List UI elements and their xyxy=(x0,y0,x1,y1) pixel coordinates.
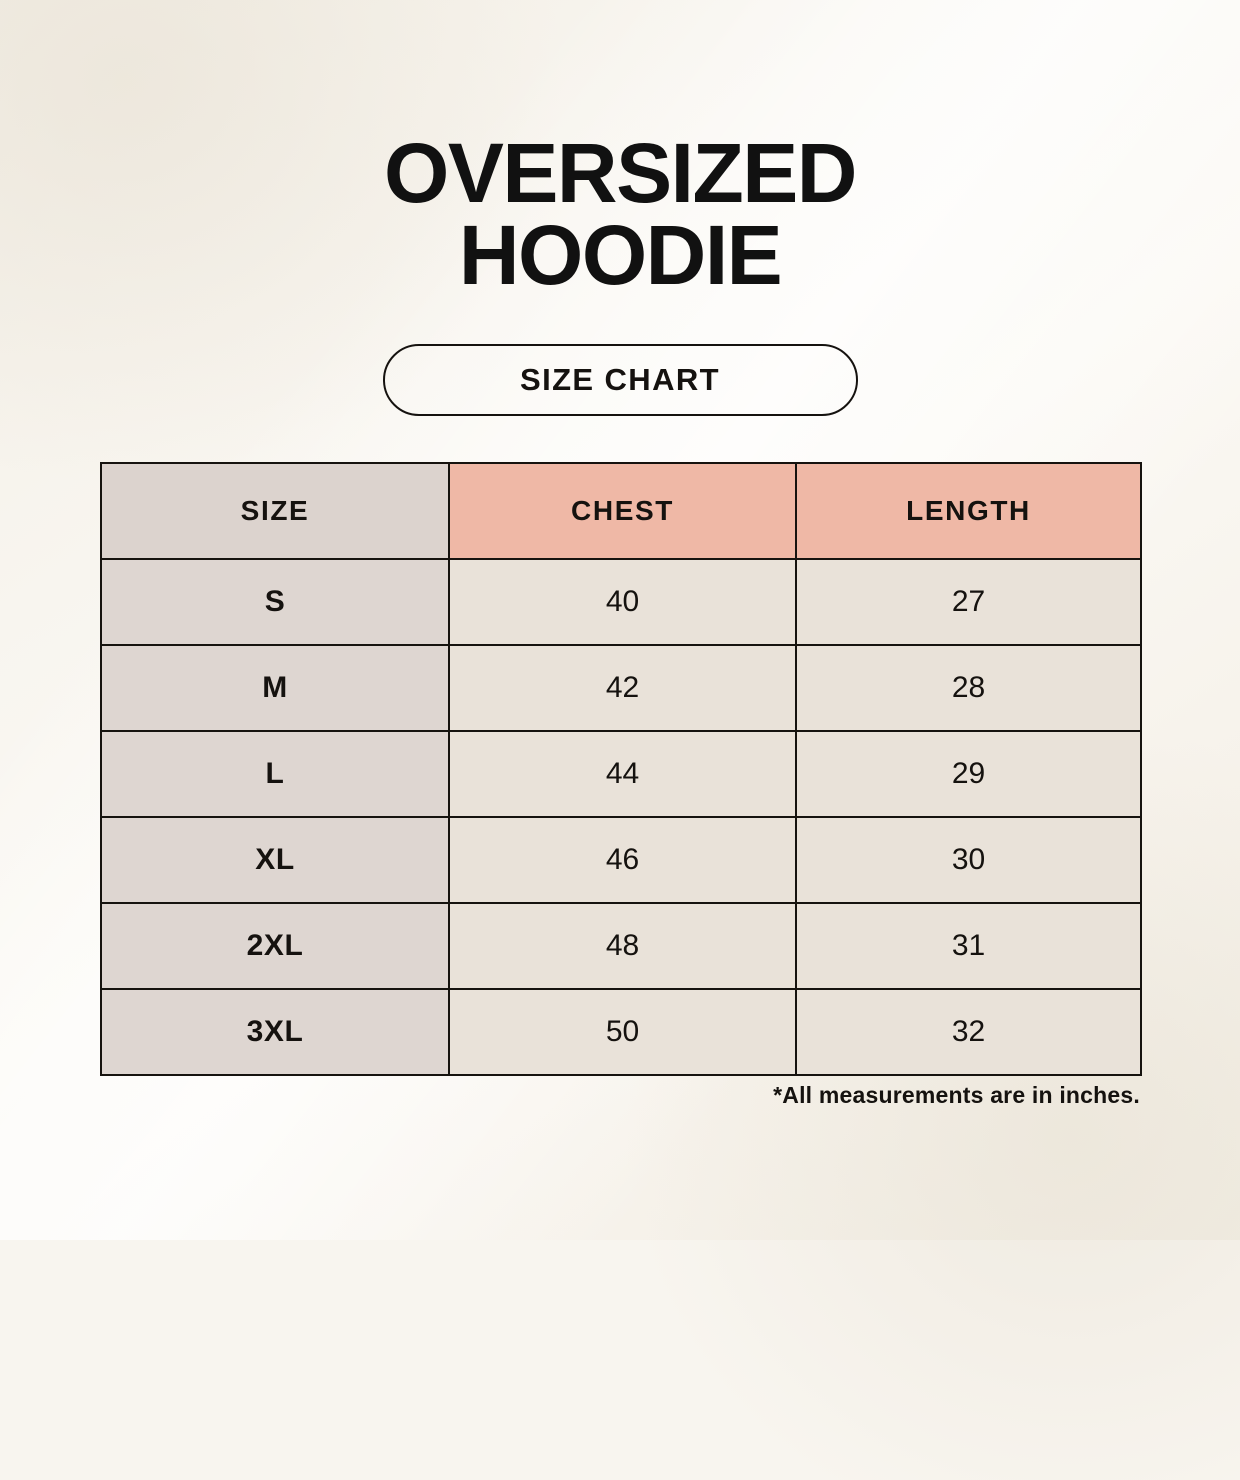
size-chart-badge: SIZE CHART xyxy=(383,344,858,416)
table-row: XL 46 30 xyxy=(101,817,1141,903)
cell-length: 32 xyxy=(796,989,1141,1075)
cell-size: XL xyxy=(101,817,449,903)
cell-length: 30 xyxy=(796,817,1141,903)
cell-length: 28 xyxy=(796,645,1141,731)
cell-length: 31 xyxy=(796,903,1141,989)
cell-chest: 40 xyxy=(449,559,796,645)
size-chart-table: SIZE CHEST LENGTH S 40 27 M 42 28 L 44 2… xyxy=(100,462,1142,1076)
column-header-chest: CHEST xyxy=(449,463,796,559)
cell-chest: 50 xyxy=(449,989,796,1075)
cell-length: 27 xyxy=(796,559,1141,645)
badge-container: SIZE CHART xyxy=(0,344,1240,416)
column-header-size: SIZE xyxy=(101,463,449,559)
table-row: M 42 28 xyxy=(101,645,1141,731)
cell-length: 29 xyxy=(796,731,1141,817)
cell-chest: 46 xyxy=(449,817,796,903)
cell-chest: 42 xyxy=(449,645,796,731)
cell-chest: 44 xyxy=(449,731,796,817)
measurement-units-note: *All measurements are in inches. xyxy=(100,1082,1140,1109)
table-header-row: SIZE CHEST LENGTH xyxy=(101,463,1141,559)
table-header: SIZE CHEST LENGTH xyxy=(101,463,1141,559)
column-header-length: LENGTH xyxy=(796,463,1141,559)
cell-size: M xyxy=(101,645,449,731)
cell-size: S xyxy=(101,559,449,645)
cell-chest: 48 xyxy=(449,903,796,989)
cell-size: L xyxy=(101,731,449,817)
page-title: OVERSIZED HOODIE xyxy=(0,132,1240,296)
size-chart-poster: OVERSIZED HOODIE SIZE CHART SIZE CHEST L… xyxy=(0,0,1240,1240)
table-row: S 40 27 xyxy=(101,559,1141,645)
size-chart-badge-label: SIZE CHART xyxy=(520,362,720,398)
table-row: L 44 29 xyxy=(101,731,1141,817)
table-row: 2XL 48 31 xyxy=(101,903,1141,989)
table-row: 3XL 50 32 xyxy=(101,989,1141,1075)
cell-size: 3XL xyxy=(101,989,449,1075)
table-body: S 40 27 M 42 28 L 44 29 XL 46 30 2XL 48 xyxy=(101,559,1141,1075)
cell-size: 2XL xyxy=(101,903,449,989)
